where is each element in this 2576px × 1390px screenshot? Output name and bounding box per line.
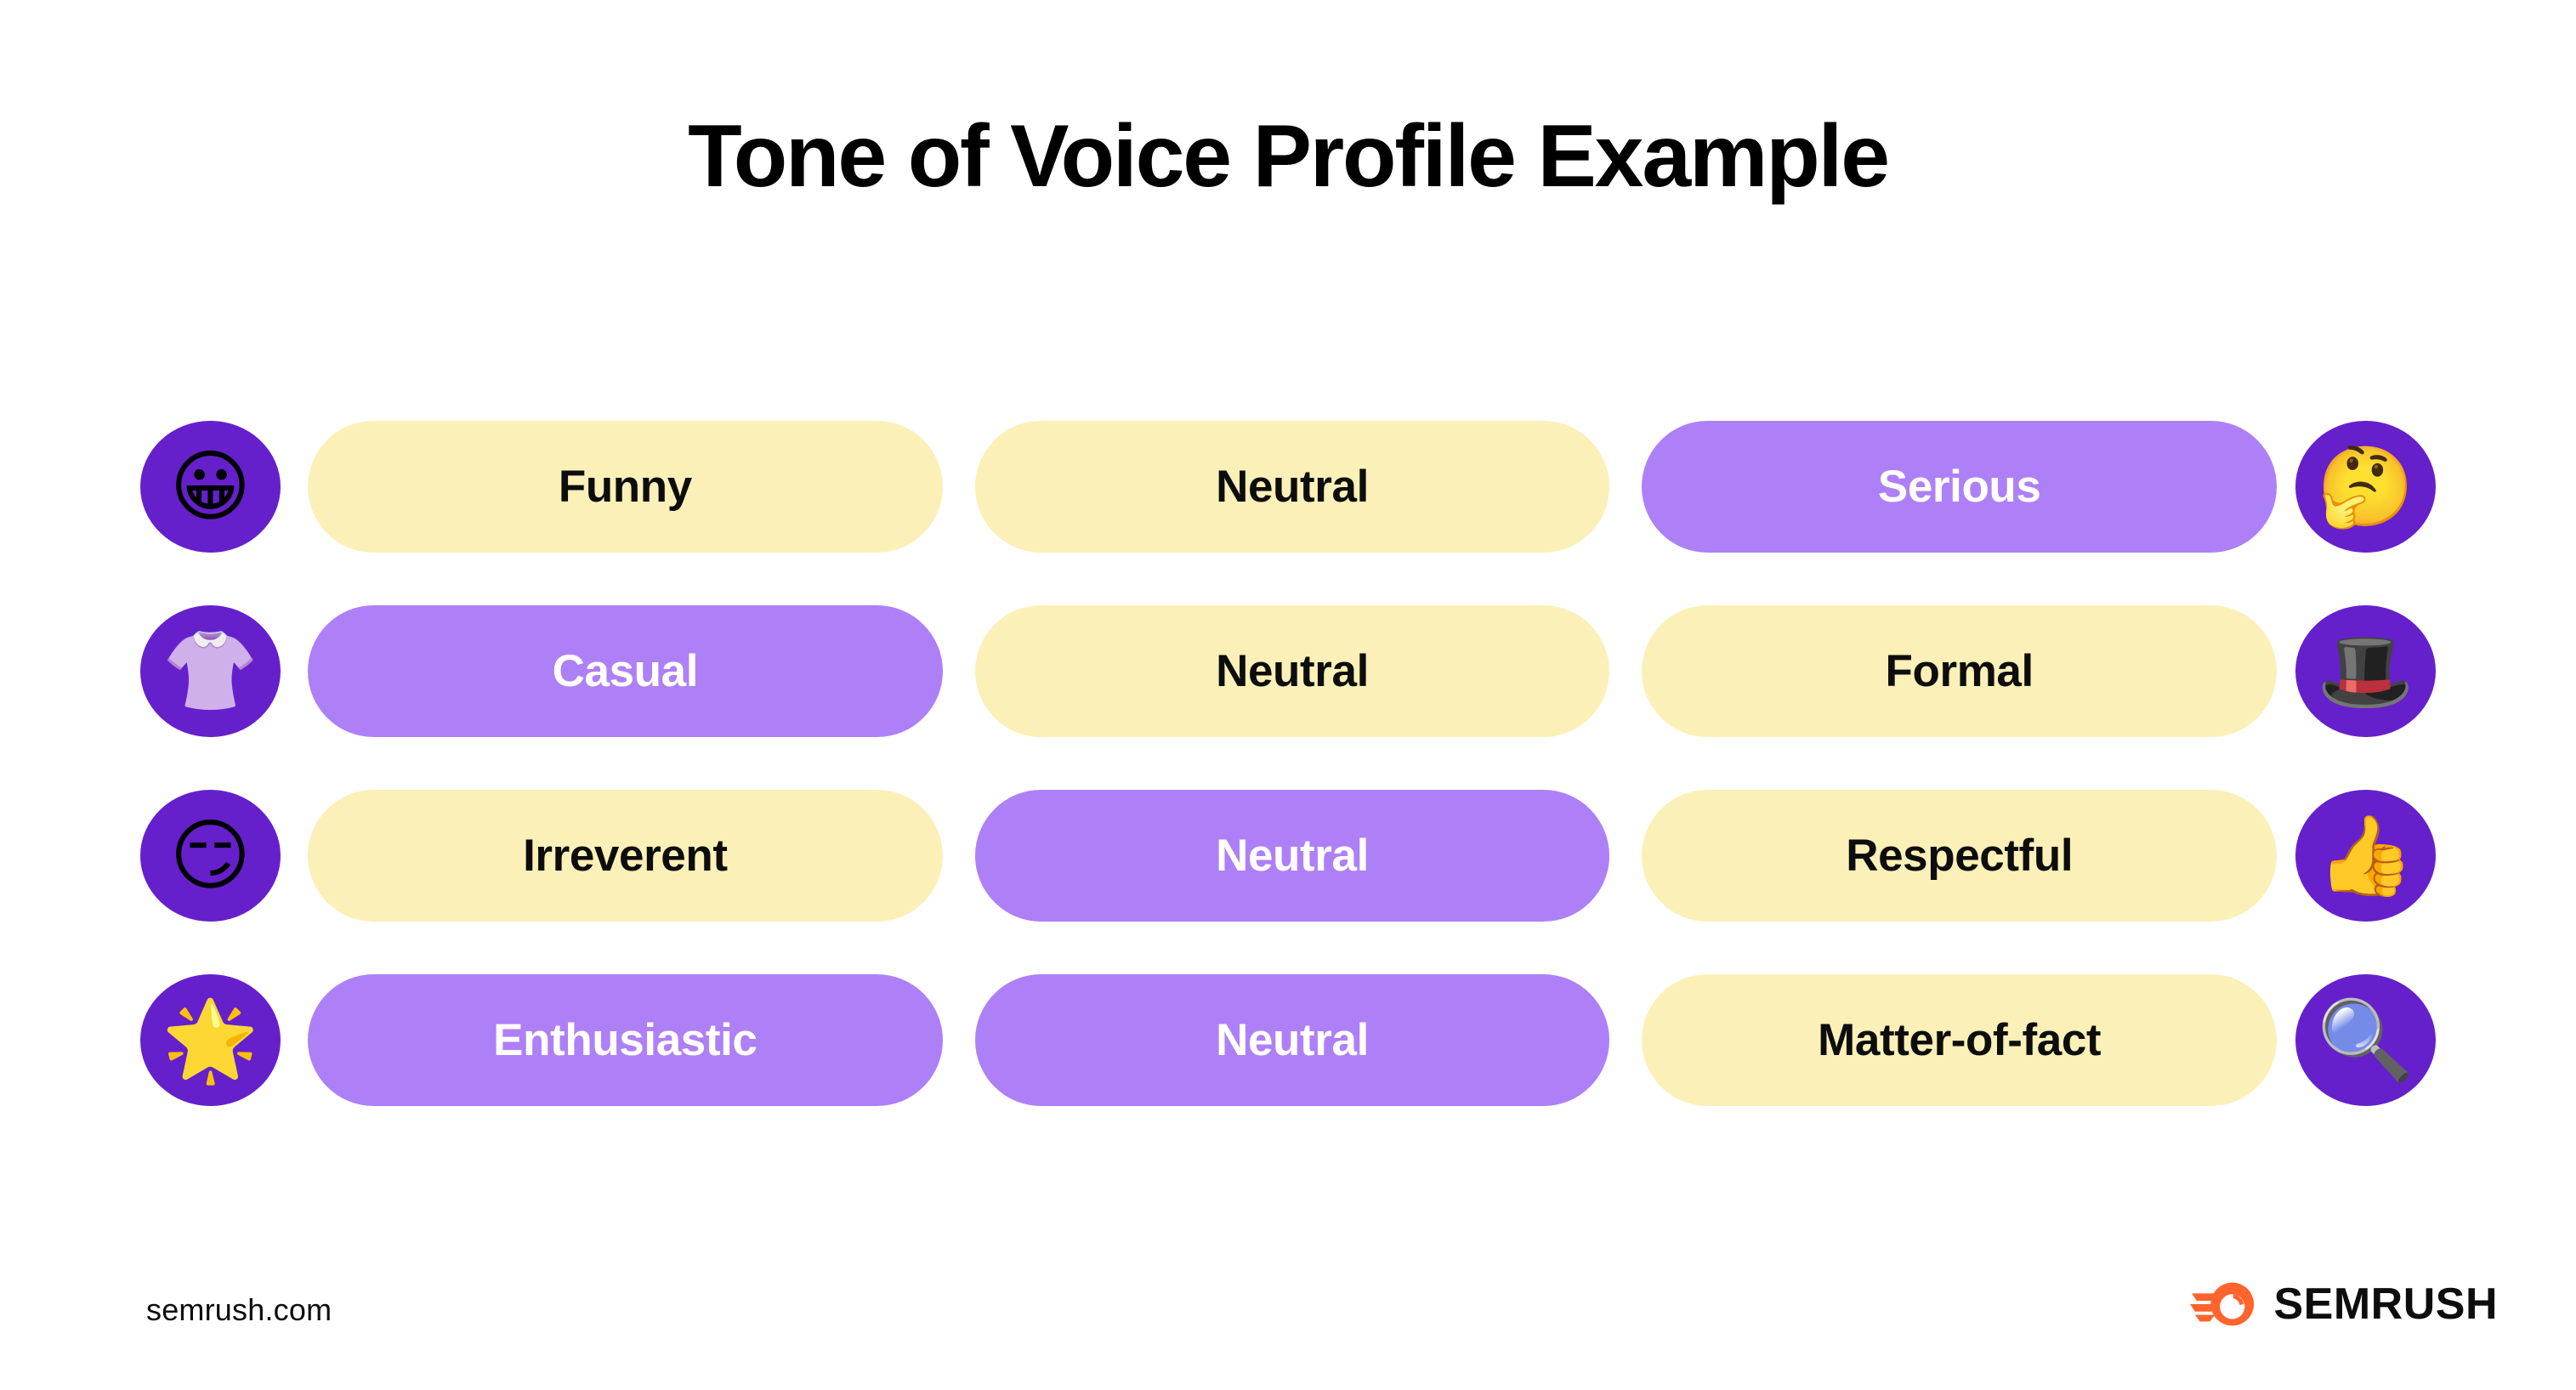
semrush-logo: SEMRUSH [2190, 1279, 2498, 1329]
tone-row: 😏IrreverentNeutralRespectful👍 [140, 790, 2436, 922]
tone-option[interactable]: Neutral [975, 605, 1610, 737]
tone-scale: EnthusiasticNeutralMatter-of-fact [308, 974, 2277, 1106]
tone-scale: FunnyNeutralSerious [308, 421, 2277, 553]
page-title: Tone of Voice Profile Example [0, 109, 2576, 204]
tone-scale: IrreverentNeutralRespectful [308, 790, 2277, 922]
tone-row: 👚CasualNeutralFormal🎩 [140, 605, 2436, 737]
tone-of-voice-matrix: 😀FunnyNeutralSerious🤔👚CasualNeutralForma… [140, 421, 2436, 1106]
tone-option[interactable]: Formal [1642, 605, 2277, 737]
magnifying-glass-emoji: 🔍 [2295, 974, 2436, 1106]
tone-option[interactable]: Matter-of-fact [1642, 974, 2277, 1106]
tone-row: 🌟EnthusiasticNeutralMatter-of-fact🔍 [140, 974, 2436, 1106]
thumbs-up-emoji: 👍 [2295, 790, 2436, 922]
tone-option[interactable]: Respectful [1642, 790, 2277, 922]
tone-row: 😀FunnyNeutralSerious🤔 [140, 421, 2436, 553]
glowing-star-emoji: 🌟 [140, 974, 281, 1106]
tone-scale: CasualNeutralFormal [308, 605, 2277, 737]
t-shirt-emoji: 👚 [140, 605, 281, 737]
tone-option-selected[interactable]: Neutral [975, 790, 1610, 922]
semrush-wordmark: SEMRUSH [2273, 1282, 2498, 1326]
tone-option-selected[interactable]: Enthusiastic [308, 974, 943, 1106]
tone-option-selected[interactable]: Serious [1642, 421, 2277, 553]
grinning-face-emoji: 😀 [140, 421, 281, 553]
smirking-face-emoji: 😏 [140, 790, 281, 922]
tone-option[interactable]: Irreverent [308, 790, 943, 922]
footer-source-url: semrush.com [146, 1292, 332, 1328]
semrush-comet-icon [2190, 1279, 2256, 1329]
thinking-face-emoji: 🤔 [2295, 421, 2436, 553]
tone-option-selected[interactable]: Casual [308, 605, 943, 737]
top-hat-emoji: 🎩 [2295, 605, 2436, 737]
tone-option-selected[interactable]: Neutral [975, 974, 1610, 1106]
tone-option[interactable]: Funny [308, 421, 943, 553]
infographic-page: Tone of Voice Profile Example 😀FunnyNeut… [0, 0, 2576, 1390]
tone-option[interactable]: Neutral [975, 421, 1610, 553]
